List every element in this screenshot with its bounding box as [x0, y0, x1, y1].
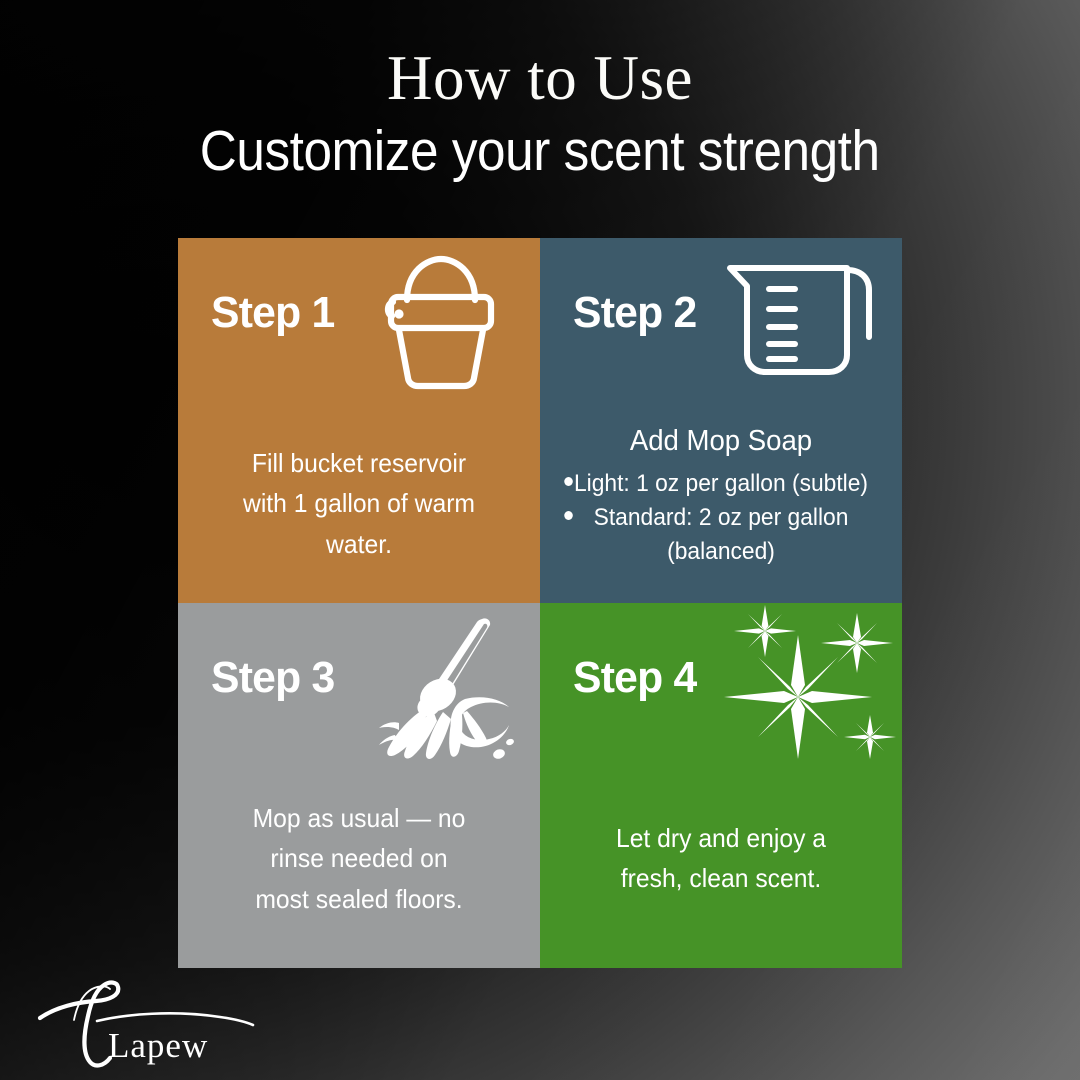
steps-grid: Step 1 Fill bucket reservoir with 1 gall…: [178, 238, 902, 968]
page-subtitle: Customize your scent strength: [200, 120, 880, 183]
step-2-bullet-list: Light: 1 oz per gallon (subtle) Standard…: [562, 467, 880, 569]
measuring-cup-icon: [718, 248, 888, 396]
bullet-dot-icon: [564, 511, 573, 520]
step-2-bullet-2: Standard: 2 oz per gallon: [594, 504, 849, 531]
sparkles-icon: [720, 605, 902, 765]
step-3-label: Step 3: [211, 653, 334, 703]
step-3-body-line-2: rinse needed on: [208, 838, 510, 878]
step-1-body: Fill bucket reservoir with 1 gallon of w…: [178, 443, 540, 564]
step-2-bullet-2-continuation: (balanced): [667, 538, 775, 565]
bullet-dot-icon: [564, 477, 573, 486]
step-2-bullet-1: Light: 1 oz per gallon (subtle): [574, 470, 868, 497]
step-3-body-line-3: most sealed floors.: [208, 879, 510, 919]
step-3-header: Step 3: [178, 603, 540, 763]
step-card-1[interactable]: Step 1 Fill bucket reservoir with 1 gall…: [178, 238, 540, 603]
bucket-icon: [356, 248, 526, 396]
step-4-body: Let dry and enjoy a fresh, clean scent.: [540, 818, 902, 899]
step-card-3[interactable]: Step 3: [178, 603, 540, 968]
step-2-heading: Add Mop Soap: [570, 423, 872, 461]
step-1-body-line-2: with 1 gallon of warm: [208, 483, 510, 523]
step-2-header: Step 2: [540, 238, 902, 398]
step-4-body-line-2: fresh, clean scent.: [570, 858, 872, 898]
step-4-header: Step 4: [540, 603, 902, 763]
header: How to Use Customize your scent strength: [0, 0, 1080, 238]
step-1-header: Step 1: [178, 238, 540, 398]
step-1-body-line-3: water.: [208, 524, 510, 564]
brand-name: Lapew: [108, 1026, 208, 1066]
step-2-body: Add Mop Soap Light: 1 oz per gallon (sub…: [540, 423, 902, 569]
step-3-body-line-1: Mop as usual — no: [208, 798, 510, 838]
step-3-body: Mop as usual — no rinse needed on most s…: [178, 798, 540, 919]
step-4-label: Step 4: [573, 653, 696, 703]
list-item-continuation: (balanced): [570, 535, 872, 569]
step-1-label: Step 1: [211, 288, 334, 338]
step-1-body-line-1: Fill bucket reservoir: [208, 443, 510, 483]
brand-logo[interactable]: Lapew: [34, 978, 264, 1070]
page-title: How to Use: [387, 46, 693, 110]
list-item: Light: 1 oz per gallon (subtle): [570, 467, 872, 501]
list-item: Standard: 2 oz per gallon: [570, 501, 872, 535]
step-card-2[interactable]: Step 2 Add Mop Soap: [540, 238, 902, 603]
step-card-4[interactable]: Step 4: [540, 603, 902, 968]
step-2-label: Step 2: [573, 288, 696, 338]
step-4-body-line-1: Let dry and enjoy a: [570, 818, 872, 858]
mop-icon: [356, 613, 526, 761]
